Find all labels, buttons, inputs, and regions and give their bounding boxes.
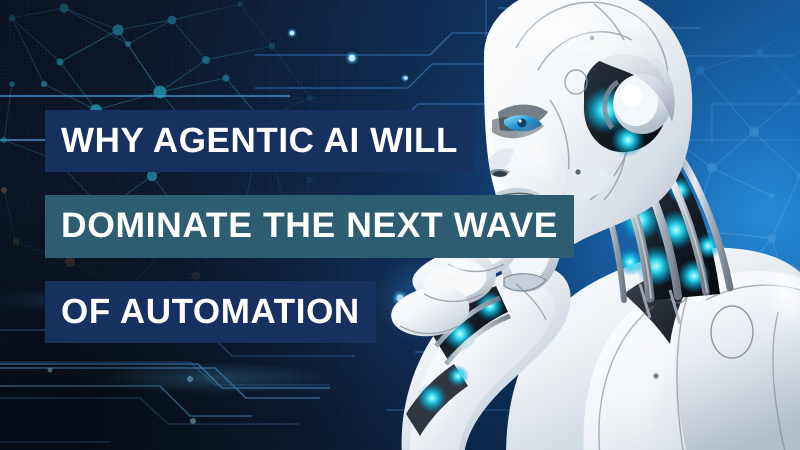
- banner-canvas: WHY AGENTIC AI WILL DOMINATE THE NEXT WA…: [0, 0, 800, 450]
- headline-line-1: WHY AGENTIC AI WILL: [45, 110, 474, 172]
- headline-block: WHY AGENTIC AI WILL DOMINATE THE NEXT WA…: [45, 110, 574, 343]
- headline-line-3: OF AUTOMATION: [45, 281, 376, 343]
- headline-line-2: DOMINATE THE NEXT WAVE: [45, 195, 574, 258]
